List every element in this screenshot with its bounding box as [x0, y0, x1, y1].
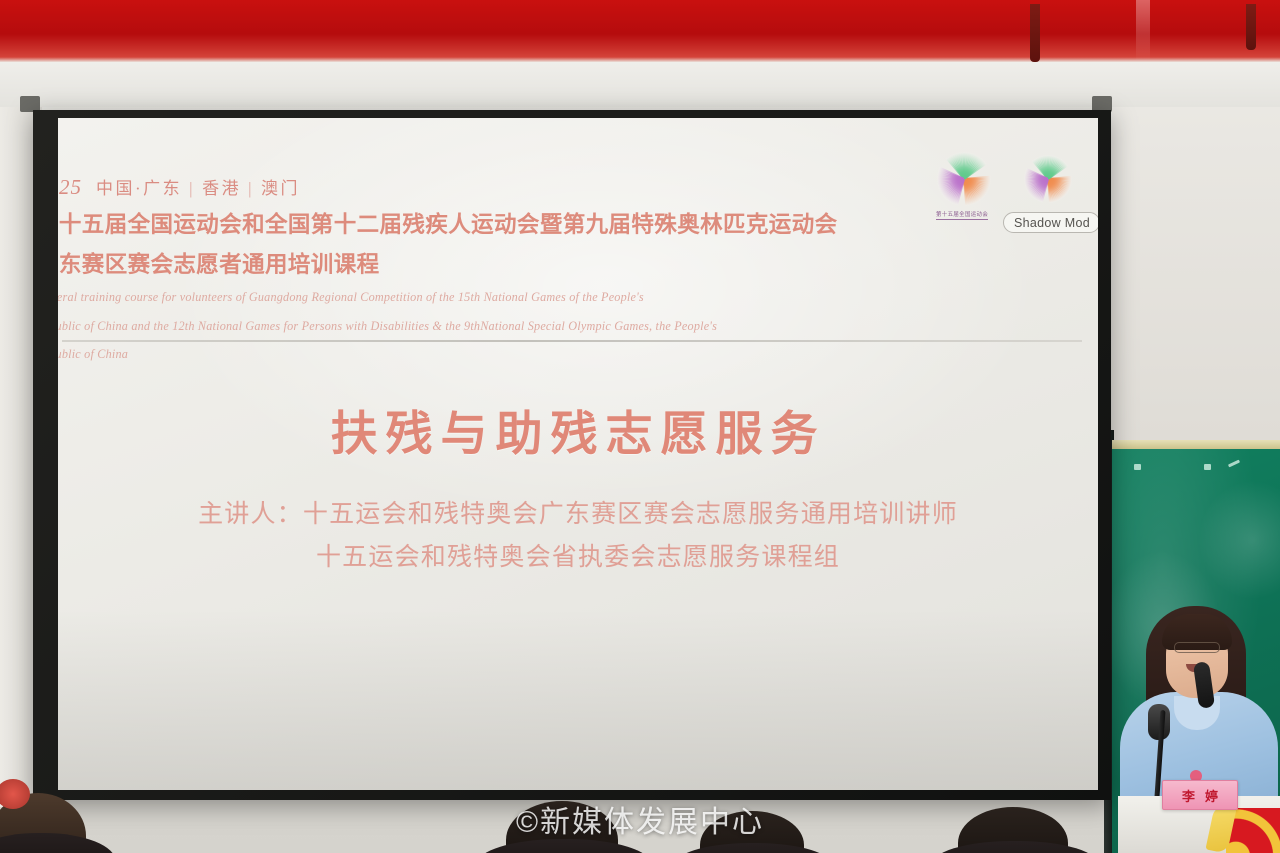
presenter-role: 十五运会和残特奥会广东赛区赛会志愿服务通用培训讲师 [303, 501, 958, 528]
presentation-slide: 2025中国·广东|香港|澳门 第十五届全国运动会和全国第十二届残疾人运动会暨第… [58, 118, 1098, 790]
pinwheel-burst-icon [932, 148, 994, 210]
pinwheel-burst-icon-secondary [1018, 150, 1076, 208]
projection-screen: 2025中国·广东|香港|澳门 第十五届全国运动会和全国第十二届残疾人运动会暨第… [58, 118, 1098, 790]
header-en-line-3: Republic of China [58, 345, 1046, 364]
header-cn-line-1: 第十五届全国运动会和全国第十二届残疾人运动会暨第九届特殊奥林匹克运动会 [58, 210, 1046, 240]
presenter-line-1: 主讲人：十五运会和残特奥会广东赛区赛会志愿服务通用培训讲师 [58, 493, 1098, 536]
chalkboard-rail [1112, 440, 1280, 449]
upper-wall-strip [0, 62, 1280, 107]
nameplate-char-2: 婷 [1205, 786, 1218, 805]
ceiling-hook-right [1246, 4, 1256, 50]
chalk-mark [1134, 464, 1141, 470]
slide-main-title: 扶残与助残志愿服务 [58, 395, 1098, 464]
chalk-mark [1228, 460, 1240, 468]
host-region-3: 澳门 [261, 179, 300, 198]
header-cn-line-2: 广东赛区赛会志愿者通用培训课程 [58, 250, 1046, 280]
speaker-nameplate: 李 婷 [1162, 780, 1238, 810]
header-en-line-1: General training course for volunteers o… [58, 288, 1046, 307]
header-en-line-2: Republic of China and the 12th National … [58, 317, 1046, 336]
slide-header: 2025中国·广东|香港|澳门 第十五届全国运动会和全国第十二届残疾人运动会暨第… [58, 174, 1046, 364]
header-divider-rule [62, 340, 1082, 342]
shadow-mod-label: Shadow Mod [1014, 216, 1090, 230]
presenter-line-2: 十五运会和残特奥会省执委会志愿服务课程组 [58, 536, 1098, 579]
presenter-label: 主讲人： [198, 501, 303, 528]
projection-screen-frame: 2025中国·广东|香港|澳门 第十五届全国运动会和全国第十二届残疾人运动会暨第… [33, 110, 1111, 800]
red-ceiling-band [0, 0, 1280, 62]
region-separator-2: | [248, 179, 254, 198]
event-year: 2025 [58, 175, 82, 199]
host-region-main: 中国·广东 [96, 179, 182, 198]
event-host-line: 2025中国·广东|香港|澳门 [58, 174, 1046, 200]
lecture-room-scene: 2025中国·广东|香港|澳门 第十五届全国运动会和全国第十二届残疾人运动会暨第… [0, 0, 1280, 853]
slide-presenter-block: 主讲人：十五运会和残特奥会广东赛区赛会志愿服务通用培训讲师 十五运会和残特奥会省… [58, 493, 1098, 579]
logo-caption: 第十五届全国运动会 [936, 210, 988, 220]
right-upper-wall [1112, 107, 1280, 440]
shadow-mod-badge[interactable]: Shadow Mod [1003, 212, 1098, 233]
speaker-figure: 李 婷 [1118, 600, 1280, 853]
ceiling-hook-left [1030, 4, 1040, 62]
host-region-2: 香港 [202, 179, 241, 198]
glasses-icon [1174, 642, 1220, 653]
region-separator-1: | [189, 179, 195, 198]
chalk-mark [1204, 464, 1211, 470]
nameplate-char-1: 李 [1182, 786, 1195, 805]
